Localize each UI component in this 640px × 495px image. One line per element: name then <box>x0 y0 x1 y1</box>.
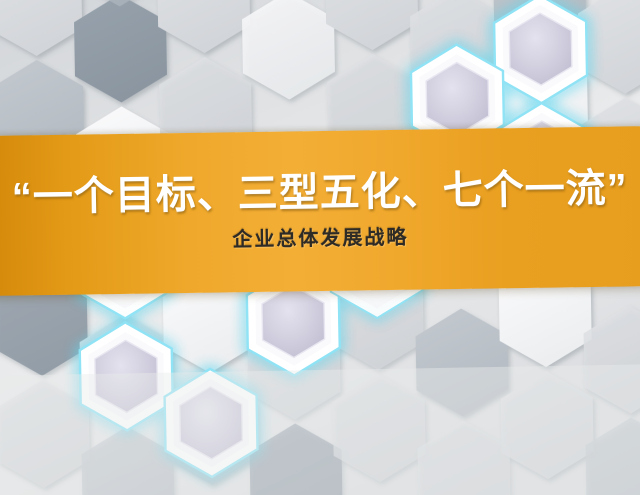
page-title: “一个目标、三型五化、七个一流” <box>11 167 628 221</box>
presentation-slide: “一个目标、三型五化、七个一流” 企业总体发展战略 <box>0 0 640 495</box>
page-subtitle: 企业总体发展战略 <box>232 221 408 253</box>
title-banner: “一个目标、三型五化、七个一流” 企业总体发展战略 <box>0 126 640 296</box>
